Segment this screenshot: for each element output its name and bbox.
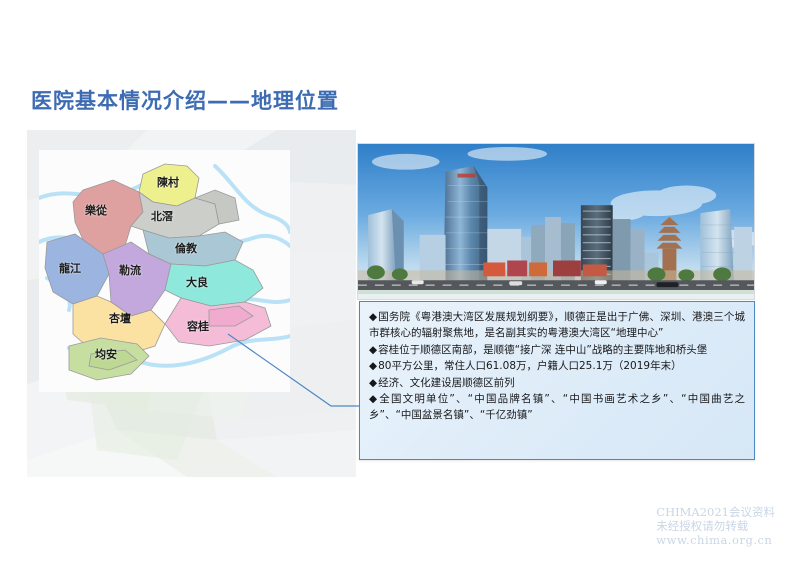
page-title: 医院基本情况介绍——地理位置 xyxy=(31,85,339,115)
info-bullet-4: ◆经济、文化建设居顺德区前列 xyxy=(369,375,745,391)
info-bullet-5: ◆全国文明单位”、“中国品牌名镇”、“中国书画艺术之乡”、“中国曲艺之乡”、“中… xyxy=(369,391,745,424)
watermark-line-1: CHIMA2021会议资料 xyxy=(656,505,775,519)
map-label-lecong: 樂從 xyxy=(85,202,107,218)
map-label-rongui: 容桂 xyxy=(187,318,209,334)
map-label-longjiang: 龍江 xyxy=(59,260,81,276)
map-label-daliang: 大良 xyxy=(186,274,208,290)
map-label-lunjiao: 倫教 xyxy=(175,240,197,256)
map-label-xingtan: 杏壇 xyxy=(109,310,131,326)
watermark-line-2: 未经授权请勿转载 xyxy=(656,519,775,533)
diamond-bullet-icon: ◆ xyxy=(369,393,378,405)
info-bullet-3: ◆80平方公里，常住人口61.08万，户籍人口25.1万（2019年末） xyxy=(369,358,745,374)
map-label-chencun: 陳村 xyxy=(157,174,179,190)
map-label-leliu: 勒流 xyxy=(119,262,141,278)
shunde-district-map: 陳村 樂從 北滘 倫教 龍江 勒流 大良 杏壇 容桂 均安 xyxy=(39,150,290,392)
rongui-cityscape-photo xyxy=(357,143,755,300)
diamond-bullet-icon: ◆ xyxy=(369,311,377,323)
info-bullet-1: ◆国务院《粤港澳大湾区发展规划纲要》，顺德正是出于广佛、深圳、港澳三个城市群核心… xyxy=(369,309,745,342)
diamond-bullet-icon: ◆ xyxy=(369,377,377,389)
info-bullet-2: ◆容桂位于顺德区南部，是顺德“接广深 连中山”战略的主要阵地和桥头堡 xyxy=(369,342,745,358)
map-label-beijiao: 北滘 xyxy=(151,208,173,224)
location-info-box: ◆国务院《粤港澳大湾区发展规划纲要》，顺德正是出于广佛、深圳、港澳三个城市群核心… xyxy=(359,301,755,460)
slide-canvas: 医院基本情况介绍——地理位置 xyxy=(0,0,793,561)
cityscape-illustration-icon xyxy=(358,144,754,299)
diamond-bullet-icon: ◆ xyxy=(369,344,377,356)
watermark: CHIMA2021会议资料 未经授权请勿转载 www.chima.org.cn xyxy=(656,505,775,547)
watermark-url: www.chima.org.cn xyxy=(656,533,775,547)
diamond-bullet-icon: ◆ xyxy=(369,360,377,372)
map-label-junan: 均安 xyxy=(95,346,117,362)
